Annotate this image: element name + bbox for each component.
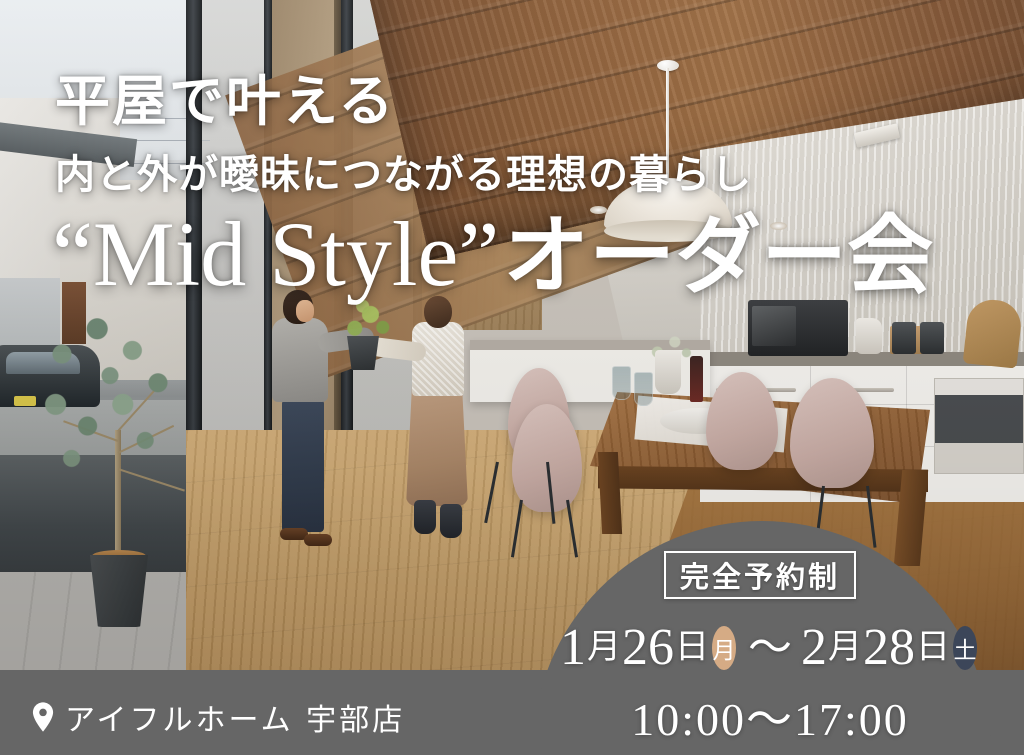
person-man-torso	[272, 318, 328, 402]
end-day-number: 28	[863, 622, 915, 674]
built-in-oven	[934, 378, 1024, 474]
person-woman-sock	[414, 500, 436, 534]
microwave-window	[752, 306, 796, 346]
store-location: アイフルホーム 宇部店	[32, 695, 405, 739]
event-time-range: 10:00〜17:00	[560, 683, 980, 749]
end-month-number: 2	[801, 622, 827, 674]
end-weekday-badge: 土	[953, 626, 977, 670]
storage-canister	[920, 322, 944, 354]
store-name: アイフルホーム 宇部店	[65, 695, 405, 739]
start-month-unit: 月	[587, 631, 621, 665]
title-english: “Mid Style”	[52, 208, 499, 300]
end-day-unit: 日	[916, 631, 950, 665]
drinking-glass	[634, 372, 653, 406]
flower-vase	[655, 350, 681, 394]
reservation-required-badge: 完全予約制	[664, 551, 856, 599]
reservation-required-label: 完全予約制	[680, 554, 840, 596]
storage-canister	[892, 322, 916, 354]
start-day-unit: 日	[675, 631, 709, 665]
location-pin-icon	[32, 702, 54, 732]
start-weekday-badge: 月	[712, 626, 736, 670]
title-japanese: オーダー会	[503, 213, 933, 299]
electric-kettle	[856, 318, 882, 354]
plant-foliage	[30, 300, 190, 480]
start-day-number: 26	[622, 622, 674, 674]
event-date-range: 1 月 26 日 月 〜 2 月 28 日 土	[560, 617, 980, 679]
end-month-unit: 月	[828, 631, 862, 665]
event-title: “Mid Style” オーダー会	[52, 208, 933, 300]
start-month-number: 1	[560, 622, 586, 674]
table-apron	[598, 466, 928, 492]
headline-line-2: 内と外が曖昧につながる理想の暮らし	[55, 142, 752, 200]
person-woman-sock	[440, 504, 462, 538]
wine-bottle	[690, 356, 703, 402]
person-man-shoe	[304, 534, 332, 546]
table-leg	[598, 452, 622, 534]
date-range-separator: 〜	[748, 626, 792, 670]
headline-line-1: 平屋で叶える	[55, 56, 395, 136]
event-banner: 平屋で叶える 内と外が曖昧につながる理想の暮らし “Mid Style” オーダ…	[0, 0, 1024, 755]
person-man-legs	[282, 398, 324, 532]
drinking-glass	[612, 366, 631, 400]
